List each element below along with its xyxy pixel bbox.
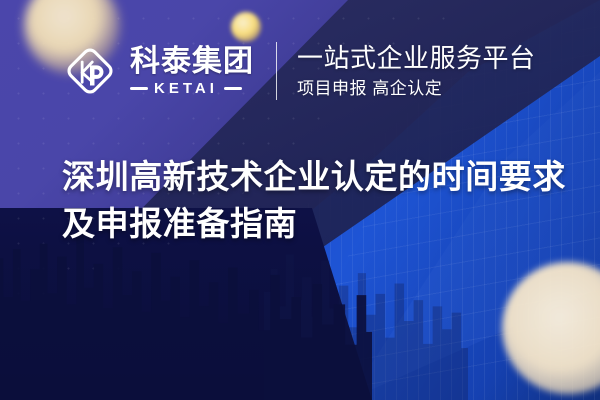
banner-header: 科泰集团 KETAI 一站式企业服务平台 项目申报 高企认定	[62, 42, 536, 100]
promo-banner: 科泰集团 KETAI 一站式企业服务平台 项目申报 高企认定 深圳高新技术企业认…	[0, 0, 600, 400]
page-title-line-2: 及申报准备指南	[62, 201, 556, 248]
brand-name-en-row: KETAI	[130, 81, 254, 96]
tagline-block: 一站式企业服务平台 项目申报 高企认定	[297, 43, 536, 99]
tagline-sub: 项目申报 高企认定	[297, 78, 536, 99]
page-title: 深圳高新技术企业认定的时间要求 及申报准备指南	[62, 154, 556, 248]
dash-left-icon	[130, 87, 148, 90]
glow-orb-gold-icon	[231, 12, 261, 42]
ketai-diamond-kp-monogram-icon	[62, 43, 118, 99]
dash-right-icon	[224, 87, 242, 90]
page-title-line-1: 深圳高新技术企业认定的时间要求	[62, 154, 556, 201]
brand-name-cn: 科泰集团	[130, 46, 254, 78]
tagline-main: 一站式企业服务平台	[297, 43, 536, 74]
vertical-divider	[276, 42, 277, 100]
brand-wordmark: 科泰集团 KETAI	[130, 46, 254, 96]
brand-logo[interactable]: 科泰集团 KETAI	[62, 43, 254, 99]
brand-name-en: KETAI	[154, 81, 218, 96]
